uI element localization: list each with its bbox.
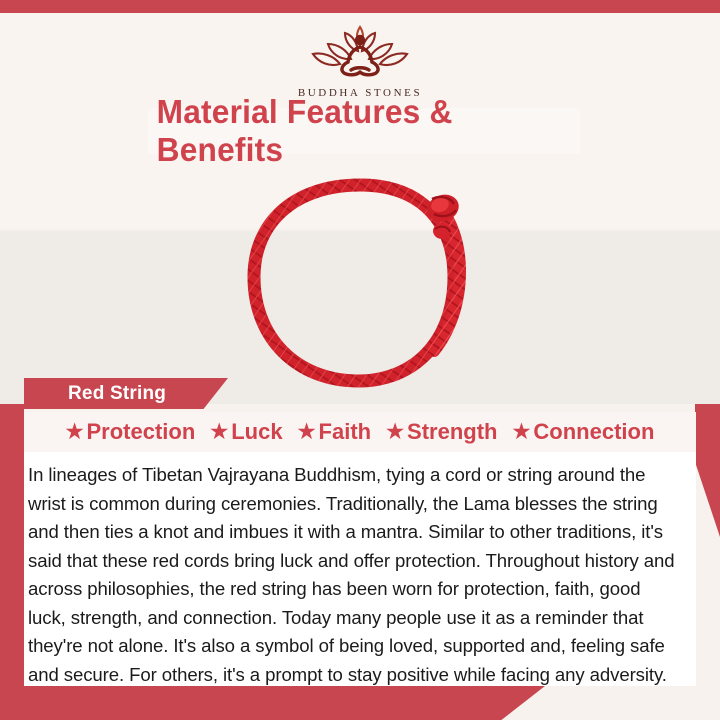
benefits-row: ★ Protection ★ Luck ★ Faith ★ Strength ★… xyxy=(24,412,696,452)
star-icon: ★ xyxy=(210,422,228,442)
benefit-label: Luck xyxy=(231,419,282,445)
star-icon: ★ xyxy=(66,422,84,442)
star-icon: ★ xyxy=(298,422,316,442)
star-icon: ★ xyxy=(386,422,404,442)
benefit-protection: ★ Protection xyxy=(66,419,209,445)
page-title: Material Features & Benefits xyxy=(157,93,572,169)
benefit-connection: ★ Connection xyxy=(512,419,654,445)
benefit-faith: ★ Faith xyxy=(298,419,385,445)
red-string-ribbon: Red String xyxy=(24,378,228,409)
description-text: In lineages of Tibetan Vajrayana Buddhis… xyxy=(28,461,680,689)
ribbon-label: Red String xyxy=(24,383,166,405)
benefit-label: Connection xyxy=(533,419,654,445)
lotus-meditation-icon xyxy=(301,21,419,85)
benefit-strength: ★ Strength xyxy=(386,419,510,445)
red-braided-cord-bracelet-icon xyxy=(228,173,492,393)
benefit-label: Strength xyxy=(407,419,497,445)
benefit-luck: ★ Luck xyxy=(210,419,295,445)
star-icon: ★ xyxy=(512,422,530,442)
benefit-label: Protection xyxy=(87,419,196,445)
product-image xyxy=(228,173,492,393)
brand-logo: BUDDHA STONES xyxy=(0,21,720,99)
frame-bottom-strip xyxy=(0,686,545,720)
infographic-page: BUDDHA STONES Material Features & Benefi… xyxy=(0,0,720,720)
hero-section: BUDDHA STONES Material Features & Benefi… xyxy=(0,13,720,404)
page-title-band: Material Features & Benefits xyxy=(148,108,580,154)
benefit-label: Faith xyxy=(319,419,372,445)
description-panel: In lineages of Tibetan Vajrayana Buddhis… xyxy=(24,452,696,686)
frame-left-bar-lower xyxy=(0,404,24,720)
frame-top-strip xyxy=(0,0,720,13)
